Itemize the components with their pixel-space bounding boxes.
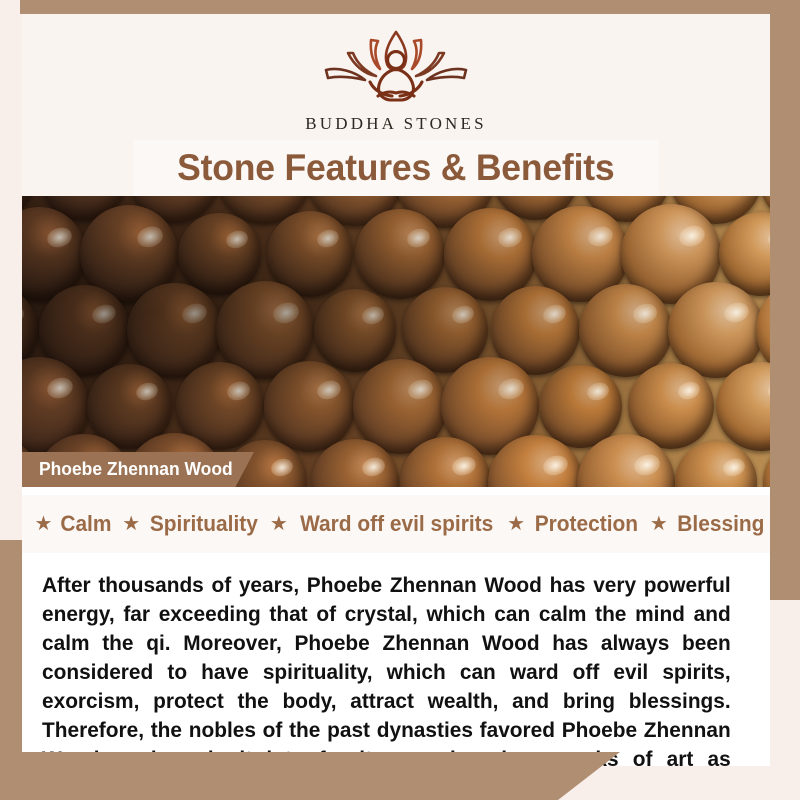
product-photo bbox=[22, 196, 770, 487]
frame-bottom-left-strip bbox=[0, 540, 24, 780]
feature-item: ★Ward off evil spirits bbox=[261, 511, 498, 537]
feature-label: Protection bbox=[535, 511, 638, 537]
wooden-bead bbox=[579, 284, 672, 377]
photo-caption-label: Phoebe Zhennan Wood bbox=[39, 459, 233, 480]
star-icon: ★ bbox=[507, 514, 525, 534]
star-icon: ★ bbox=[650, 514, 668, 534]
feature-item: ★Calm bbox=[26, 511, 114, 537]
feature-label: Blessing bbox=[677, 511, 764, 537]
wooden-bead bbox=[355, 209, 445, 299]
feature-item: ★Protection bbox=[498, 511, 641, 537]
wooden-bead bbox=[539, 365, 622, 448]
brand-logo: BUDDHA STONES bbox=[305, 26, 487, 134]
feature-keyword-row: ★Calm★Spirituality★Ward off evil spirits… bbox=[22, 495, 770, 553]
brand-name: BUDDHA STONES bbox=[305, 114, 487, 134]
star-icon: ★ bbox=[270, 514, 288, 534]
feature-label: Spirituality bbox=[150, 511, 258, 537]
star-icon: ★ bbox=[122, 514, 140, 534]
infographic-page: BUDDHA STONES Stone Features & Benefits … bbox=[0, 0, 800, 800]
feature-item: ★Blessing bbox=[641, 511, 767, 537]
frame-bottom-bar bbox=[0, 752, 620, 800]
photo-caption-banner: Phoebe Zhennan Wood bbox=[22, 452, 254, 487]
lotus-meditation-icon bbox=[308, 26, 484, 110]
page-title: Stone Features & Benefits bbox=[177, 147, 614, 189]
feature-label: Ward off evil spirits bbox=[300, 511, 493, 537]
title-band: Stone Features & Benefits bbox=[133, 140, 659, 196]
frame-top-bar bbox=[20, 0, 800, 14]
feature-item: ★Spirituality bbox=[113, 511, 261, 537]
star-icon: ★ bbox=[35, 514, 53, 534]
wooden-bead bbox=[314, 289, 397, 372]
wooden-bead bbox=[264, 361, 355, 452]
frame-right-bar bbox=[770, 0, 800, 578]
feature-label: Calm bbox=[61, 511, 112, 537]
description-area: After thousands of years, Phoebe Zhennan… bbox=[22, 553, 770, 766]
